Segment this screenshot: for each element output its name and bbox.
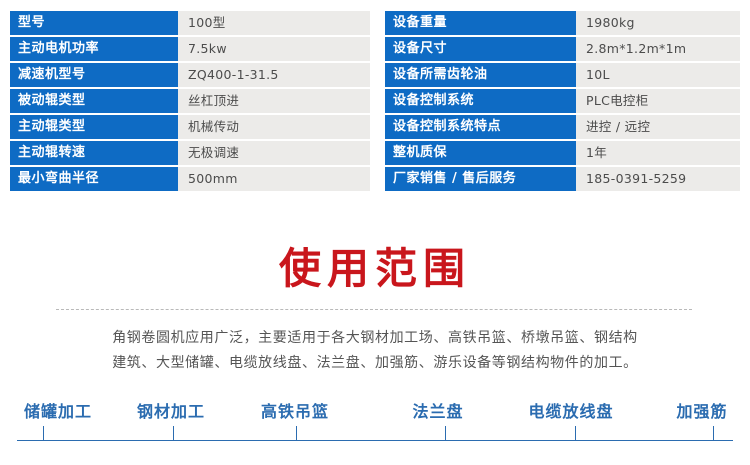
application-tag[interactable]: 储罐加工 xyxy=(24,398,92,422)
spec-row-value: 丝杠顶进 xyxy=(178,89,370,113)
spec-row-label: 被动辊类型 xyxy=(10,89,178,113)
spec-row: 被动辊类型丝杠顶进 xyxy=(10,89,370,113)
application-tag[interactable]: 高铁吊篮 xyxy=(261,398,329,422)
tag-tick xyxy=(296,426,297,441)
spec-row: 减速机型号ZQ400-1-31.5 xyxy=(10,63,370,87)
spec-table-right: 设备重量1980kg设备尺寸2.8m*1.2m*1m设备所需齿轮油10L设备控制… xyxy=(375,0,750,196)
spec-row: 设备所需齿轮油10L xyxy=(385,63,740,87)
spec-row-value: 无极调速 xyxy=(178,141,370,165)
spec-table-left: 型号100型主动电机功率7.5kw减速机型号ZQ400-1-31.5被动辊类型丝… xyxy=(0,0,375,196)
spec-row-label: 型号 xyxy=(10,11,178,35)
spec-row: 主动电机功率7.5kw xyxy=(10,37,370,61)
spec-row-value: 1980kg xyxy=(576,11,740,35)
spec-row-value: PLC电控柜 xyxy=(576,89,740,113)
spec-row-value: 185-0391-5259 xyxy=(576,167,740,191)
spec-row-value: 进控 / 远控 xyxy=(576,115,740,139)
tag-tick xyxy=(445,426,446,441)
tag-tick xyxy=(43,426,44,441)
spec-row: 型号100型 xyxy=(10,11,370,35)
tag-tick xyxy=(713,426,714,441)
application-tag[interactable]: 电缆放线盘 xyxy=(528,398,613,422)
spec-row: 设备控制系统特点进控 / 远控 xyxy=(385,115,740,139)
tag-tick xyxy=(575,426,576,441)
spec-row-label: 设备所需齿轮油 xyxy=(385,63,576,87)
spec-row-label: 设备尺寸 xyxy=(385,37,576,61)
spec-row-value: 2.8m*1.2m*1m xyxy=(576,37,740,61)
specifications-section: 型号100型主动电机功率7.5kw减速机型号ZQ400-1-31.5被动辊类型丝… xyxy=(0,0,750,196)
description-line-2: 建筑、大型储罐、电缆放线盘、法兰盘、加强筋、游乐设备等钢结构物件的加工。 xyxy=(55,351,695,376)
spec-row: 厂家销售 / 售后服务185-0391-5259 xyxy=(385,167,740,191)
spec-row-label: 厂家销售 / 售后服务 xyxy=(385,167,576,191)
spec-row-value: 1年 xyxy=(576,141,740,165)
spec-row-label: 整机质保 xyxy=(385,141,576,165)
spec-row-value: 7.5kw xyxy=(178,37,370,61)
description-line-1: 角钢卷圆机应用广泛，主要适用于各大钢材加工场、高铁吊篮、桥墩吊篮、钢结构 xyxy=(55,326,695,351)
application-tag[interactable]: 法兰盘 xyxy=(412,398,463,422)
spec-row: 最小弯曲半径500mm xyxy=(10,167,370,191)
spec-row-label: 最小弯曲半径 xyxy=(10,167,178,191)
spec-row: 设备重量1980kg xyxy=(385,11,740,35)
tag-tick-marks xyxy=(0,426,750,441)
spec-row-label: 设备重量 xyxy=(385,11,576,35)
title-divider xyxy=(56,309,692,310)
spec-row-value: ZQ400-1-31.5 xyxy=(178,63,370,87)
application-tag[interactable]: 钢材加工 xyxy=(137,398,205,422)
spec-row: 整机质保1年 xyxy=(385,141,740,165)
application-tag-strip: 储罐加工钢材加工高铁吊篮法兰盘电缆放线盘加强筋 xyxy=(0,398,750,458)
spec-row-value: 100型 xyxy=(178,11,370,35)
tag-tick xyxy=(173,426,174,441)
section-description: 角钢卷圆机应用广泛，主要适用于各大钢材加工场、高铁吊篮、桥墩吊篮、钢结构 建筑、… xyxy=(55,326,695,376)
spec-row: 主动辊类型机械传动 xyxy=(10,115,370,139)
spec-row-label: 减速机型号 xyxy=(10,63,178,87)
spec-row: 设备控制系统PLC电控柜 xyxy=(385,89,740,113)
spec-row-value: 10L xyxy=(576,63,740,87)
spec-row-label: 设备控制系统 xyxy=(385,89,576,113)
application-tag[interactable]: 加强筋 xyxy=(676,398,727,422)
spec-row-label: 主动电机功率 xyxy=(10,37,178,61)
section-title: 使用范围 xyxy=(0,243,750,295)
spec-row: 主动辊转速无极调速 xyxy=(10,141,370,165)
spec-row-value: 机械传动 xyxy=(178,115,370,139)
spec-row: 设备尺寸2.8m*1.2m*1m xyxy=(385,37,740,61)
spec-row-label: 设备控制系统特点 xyxy=(385,115,576,139)
tag-axis-line xyxy=(17,440,733,441)
spec-row-label: 主动辊类型 xyxy=(10,115,178,139)
spec-row-value: 500mm xyxy=(178,167,370,191)
spec-row-label: 主动辊转速 xyxy=(10,141,178,165)
